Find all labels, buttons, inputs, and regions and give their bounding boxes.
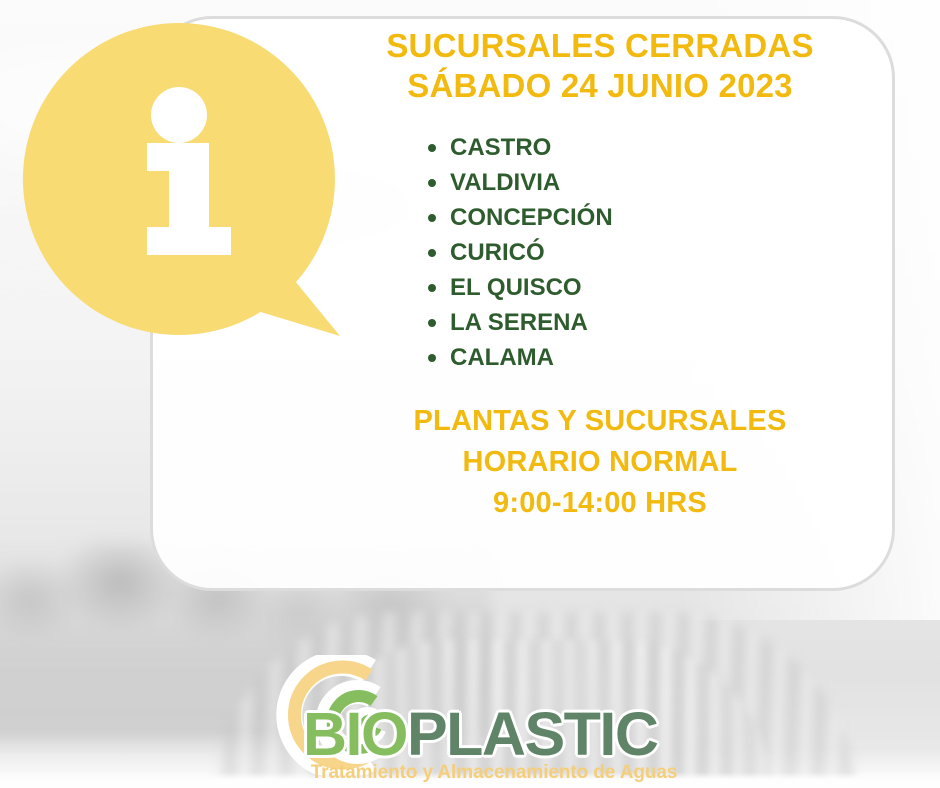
bullet-icon	[428, 144, 436, 152]
logo-tagline: Tratamiento y Almacenamiento de Aguas	[303, 762, 685, 784]
headline-line-1: SUCURSALES CERRADAS	[386, 27, 813, 64]
bullet-icon	[428, 214, 436, 222]
branch-label: VALDIVIA	[450, 169, 560, 196]
company-logo: BIOPLASTIC Tratamiento y Almacenamiento …	[255, 650, 685, 788]
schedule-line-1: PLANTAS Y SUCURSALES	[300, 401, 900, 442]
logo-word-plastic: PLASTIC	[407, 700, 657, 768]
branch-label: EL QUISCO	[450, 274, 582, 301]
bullet-icon	[428, 319, 436, 327]
bullet-icon	[428, 354, 436, 362]
bullet-icon	[428, 249, 436, 257]
poster-canvas: SUCURSALES CERRADAS SÁBADO 24 JUNIO 2023…	[0, 0, 940, 788]
list-item: LA SERENA	[300, 305, 900, 340]
branch-label: CALAMA	[450, 344, 554, 371]
info-icon	[18, 18, 340, 340]
schedule-line-2: HORARIO NORMAL	[300, 442, 900, 483]
list-item: CONCEPCIÓN	[300, 200, 900, 235]
list-item: EL QUISCO	[300, 270, 900, 305]
info-icon-dot	[151, 87, 207, 143]
page-title: SUCURSALES CERRADAS SÁBADO 24 JUNIO 2023	[300, 26, 900, 106]
branch-label: LA SERENA	[450, 309, 588, 336]
list-item: VALDIVIA	[300, 165, 900, 200]
card-content: SUCURSALES CERRADAS SÁBADO 24 JUNIO 2023…	[300, 26, 900, 524]
list-item: CALAMA	[300, 340, 900, 375]
logo-wordmark: BIOPLASTIC	[303, 703, 685, 765]
list-item: CASTRO	[300, 130, 900, 165]
branch-label: CASTRO	[450, 134, 551, 161]
logo-word-bio: BIO	[303, 700, 407, 768]
schedule-line-3: 9:00-14:00 HRS	[300, 483, 900, 524]
bullet-icon	[428, 179, 436, 187]
branch-label: CURICÓ	[450, 239, 545, 266]
schedule-block: PLANTAS Y SUCURSALES HORARIO NORMAL 9:00…	[300, 401, 900, 524]
bullet-icon	[428, 284, 436, 292]
closed-branches-list: CASTRO VALDIVIA CONCEPCIÓN CURICÓ EL QUI…	[300, 130, 900, 375]
branch-label: CONCEPCIÓN	[450, 204, 613, 231]
list-item: CURICÓ	[300, 235, 900, 270]
headline-line-2: SÁBADO 24 JUNIO 2023	[300, 66, 900, 106]
